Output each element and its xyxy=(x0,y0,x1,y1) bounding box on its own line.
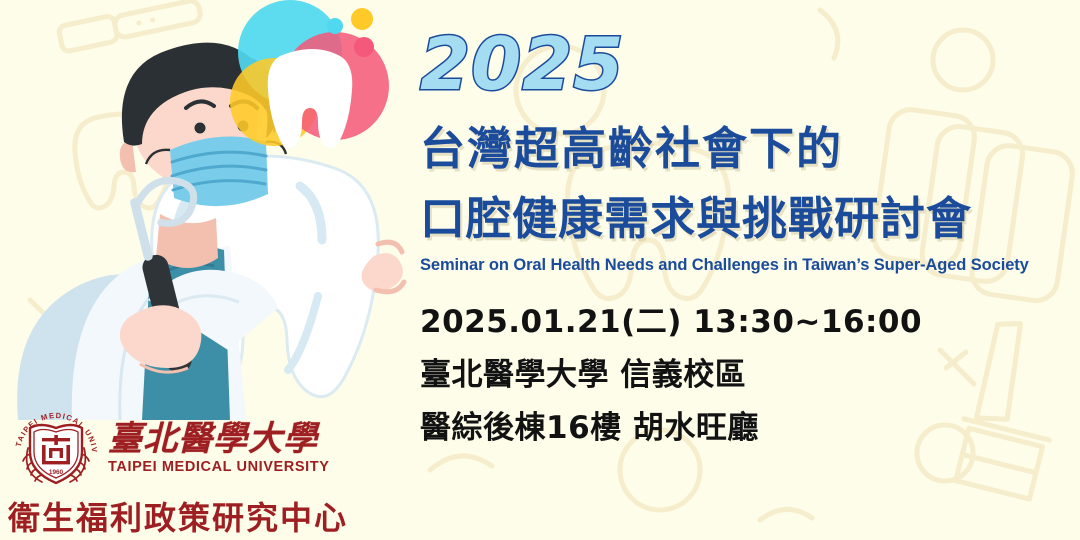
title-line-1: 台灣超高齡社會下的 xyxy=(420,125,843,173)
seminar-poster: 2025 台灣超高齡社會下的 口腔健康需求與挑戰研討會 Seminar on O… xyxy=(0,0,1080,540)
tmu-name-english: TAIPEI MEDICAL UNIVERSITY xyxy=(108,459,330,475)
english-subtitle: Seminar on Oral Health Needs and Challen… xyxy=(420,256,1029,275)
event-room: 醫綜後棟16樓 胡水旺廳 xyxy=(420,411,759,445)
tmu-organizer-logo: TAIPEI MEDICAL UNIVERSITY xyxy=(8,404,328,536)
event-datetime: 2025.01.21(二) 13:30~16:00 xyxy=(420,305,922,339)
poster-content: 2025 台灣超高齡社會下的 口腔健康需求與挑戰研討會 Seminar on O… xyxy=(414,0,1064,540)
tmu-shield-icon: TAIPEI MEDICAL UNIVERSITY xyxy=(8,404,104,490)
research-center-name: 衛生福利政策研究中心 xyxy=(8,493,328,539)
year-heading: 2025 xyxy=(420,28,624,100)
tmu-name-chinese: 臺北醫學大學 xyxy=(108,420,330,458)
title-line-2: 口腔健康需求與挑戰研討會 xyxy=(420,195,972,243)
dental-tooth-circles-logo xyxy=(222,0,402,154)
event-venue: 臺北醫學大學 信義校區 xyxy=(420,358,746,392)
shield-year-text: 1960 xyxy=(49,469,64,476)
